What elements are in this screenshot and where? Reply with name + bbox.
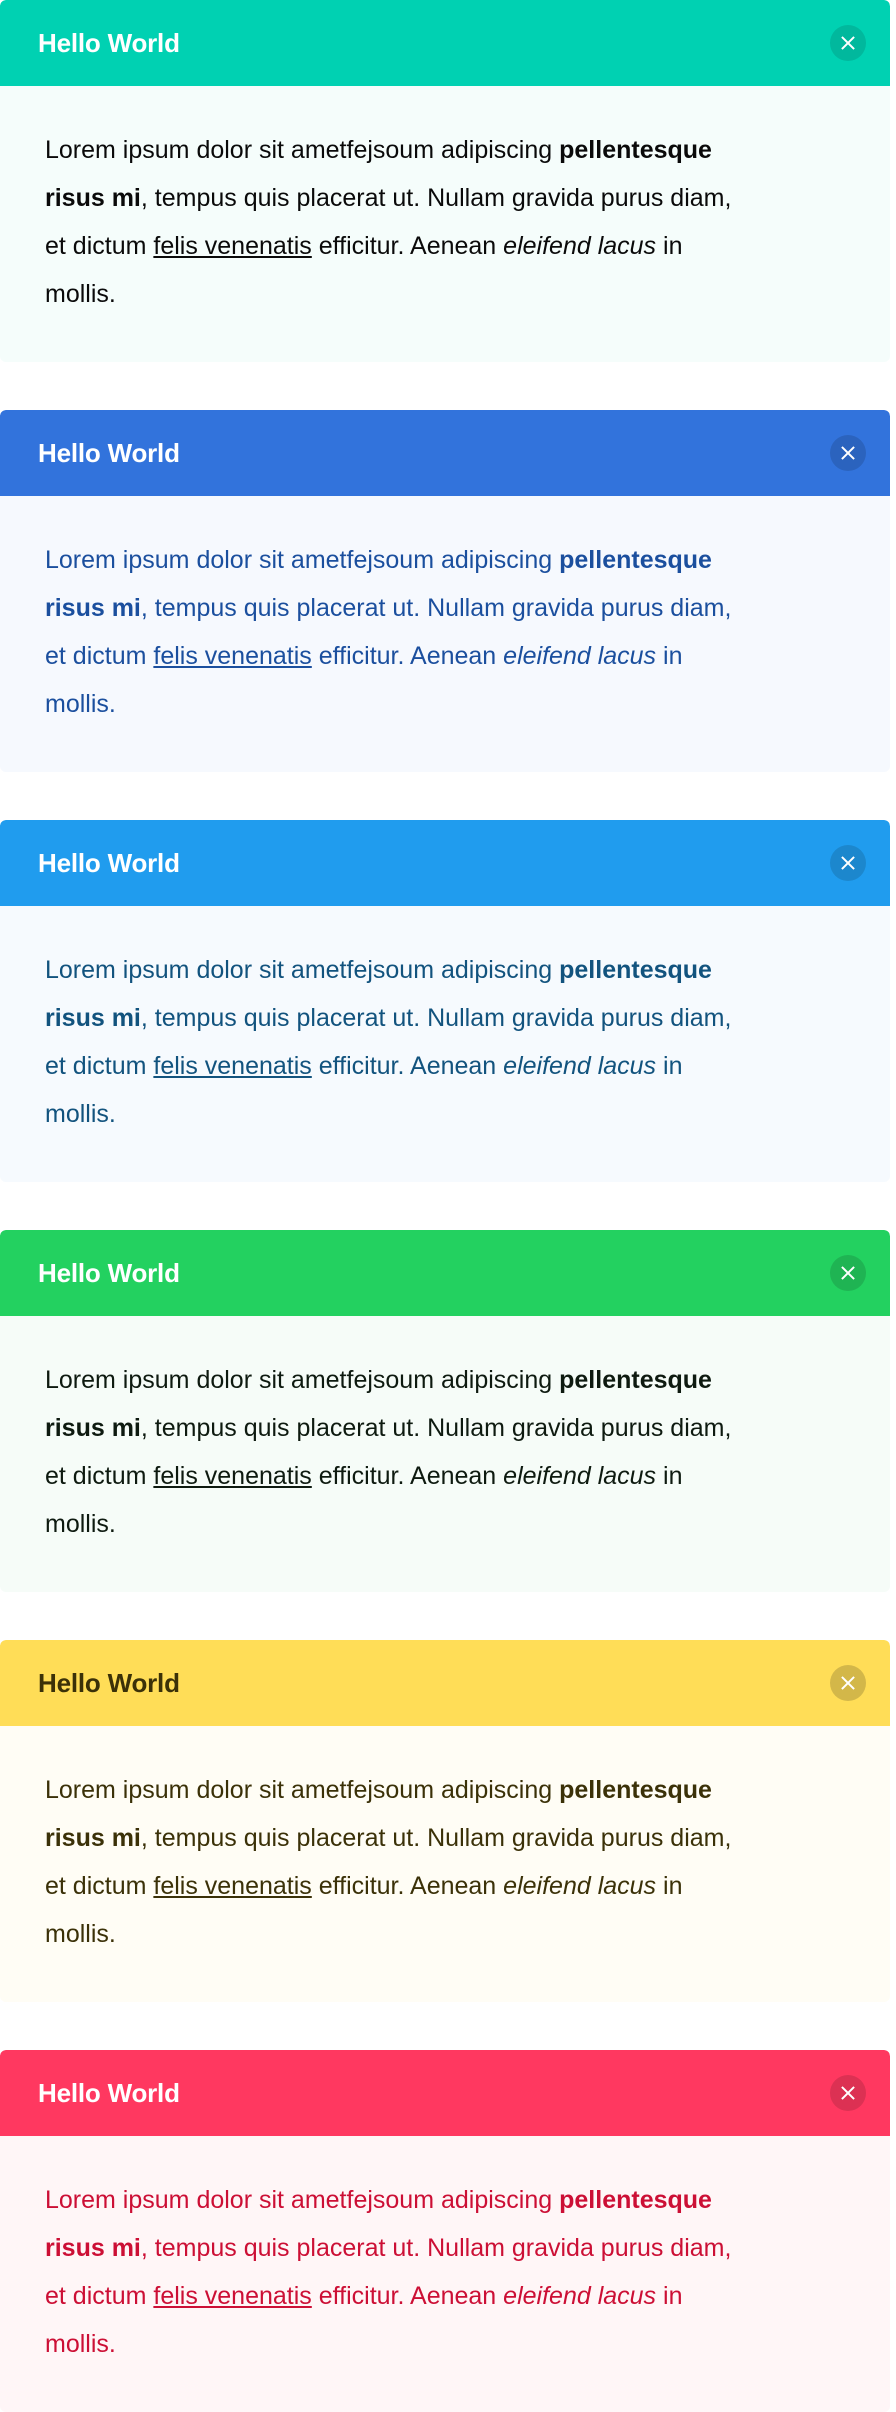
notification-card-warning: Hello WorldLorem ipsum dolor sit ametfej… (0, 1640, 896, 2002)
close-button[interactable] (830, 25, 866, 61)
card-title: Hello World (38, 2080, 180, 2106)
body-text-link[interactable]: felis venenatis (153, 1052, 311, 1080)
card-body-text: Lorem ipsum dolor sit ametfejsoum adipis… (45, 1766, 745, 1958)
close-icon (840, 1675, 856, 1691)
body-text-segment-3: efficitur. Aenean (312, 2282, 503, 2310)
notifications-page: Hello WorldLorem ipsum dolor sit ametfej… (0, 0, 896, 2412)
card-title: Hello World (38, 1670, 180, 1696)
card-body: Lorem ipsum dolor sit ametfejsoum adipis… (0, 1316, 890, 1592)
body-text-link[interactable]: felis venenatis (153, 232, 311, 260)
card-title: Hello World (38, 30, 180, 56)
notification-card-list: Hello WorldLorem ipsum dolor sit ametfej… (0, 0, 896, 2412)
card-title: Hello World (38, 1260, 180, 1286)
body-text-segment-1: Lorem ipsum dolor sit ametfejsoum adipis… (45, 136, 559, 164)
card-header: Hello World (0, 1230, 890, 1316)
body-text-link[interactable]: felis venenatis (153, 642, 311, 670)
card-header: Hello World (0, 410, 890, 496)
body-text-italic: eleifend lacus (503, 1462, 656, 1490)
body-text-italic: eleifend lacus (503, 1052, 656, 1080)
close-button[interactable] (830, 845, 866, 881)
card-header: Hello World (0, 1640, 890, 1726)
notification-card: Hello WorldLorem ipsum dolor sit ametfej… (0, 0, 890, 362)
close-icon (840, 35, 856, 51)
card-body-text: Lorem ipsum dolor sit ametfejsoum adipis… (45, 536, 745, 728)
body-text-italic: eleifend lacus (503, 2282, 656, 2310)
card-body-text: Lorem ipsum dolor sit ametfejsoum adipis… (45, 126, 745, 318)
body-text-segment-3: efficitur. Aenean (312, 1462, 503, 1490)
body-text-segment-1: Lorem ipsum dolor sit ametfejsoum adipis… (45, 2186, 559, 2214)
notification-card: Hello WorldLorem ipsum dolor sit ametfej… (0, 1230, 890, 1592)
body-text-italic: eleifend lacus (503, 232, 656, 260)
body-text-segment-3: efficitur. Aenean (312, 1052, 503, 1080)
body-text-segment-1: Lorem ipsum dolor sit ametfejsoum adipis… (45, 956, 559, 984)
body-text-link[interactable]: felis venenatis (153, 2282, 311, 2310)
notification-card: Hello WorldLorem ipsum dolor sit ametfej… (0, 1640, 890, 2002)
body-text-link[interactable]: felis venenatis (153, 1462, 311, 1490)
close-icon (840, 1265, 856, 1281)
notification-card-link: Hello WorldLorem ipsum dolor sit ametfej… (0, 410, 896, 772)
notification-card-primary: Hello WorldLorem ipsum dolor sit ametfej… (0, 0, 896, 362)
card-body: Lorem ipsum dolor sit ametfejsoum adipis… (0, 2136, 890, 2412)
card-header: Hello World (0, 2050, 890, 2136)
body-text-link[interactable]: felis venenatis (153, 1872, 311, 1900)
body-text-segment-3: efficitur. Aenean (312, 642, 503, 670)
close-button[interactable] (830, 1255, 866, 1291)
card-header: Hello World (0, 0, 890, 86)
body-text-segment-1: Lorem ipsum dolor sit ametfejsoum adipis… (45, 546, 559, 574)
body-text-segment-1: Lorem ipsum dolor sit ametfejsoum adipis… (45, 1366, 559, 1394)
card-body-text: Lorem ipsum dolor sit ametfejsoum adipis… (45, 946, 745, 1138)
close-icon (840, 445, 856, 461)
card-body: Lorem ipsum dolor sit ametfejsoum adipis… (0, 86, 890, 362)
notification-card-danger: Hello WorldLorem ipsum dolor sit ametfej… (0, 2050, 896, 2412)
body-text-segment-3: efficitur. Aenean (312, 1872, 503, 1900)
close-button[interactable] (830, 2075, 866, 2111)
card-body-text: Lorem ipsum dolor sit ametfejsoum adipis… (45, 2176, 745, 2368)
notification-card: Hello WorldLorem ipsum dolor sit ametfej… (0, 2050, 890, 2412)
body-text-italic: eleifend lacus (503, 1872, 656, 1900)
body-text-segment-1: Lorem ipsum dolor sit ametfejsoum adipis… (45, 1776, 559, 1804)
card-header: Hello World (0, 820, 890, 906)
close-button[interactable] (830, 435, 866, 471)
notification-card-info: Hello WorldLorem ipsum dolor sit ametfej… (0, 820, 896, 1182)
card-title: Hello World (38, 440, 180, 466)
notification-card: Hello WorldLorem ipsum dolor sit ametfej… (0, 820, 890, 1182)
body-text-segment-3: efficitur. Aenean (312, 232, 503, 260)
card-body-text: Lorem ipsum dolor sit ametfejsoum adipis… (45, 1356, 745, 1548)
card-title: Hello World (38, 850, 180, 876)
card-body: Lorem ipsum dolor sit ametfejsoum adipis… (0, 496, 890, 772)
close-icon (840, 855, 856, 871)
notification-card-success: Hello WorldLorem ipsum dolor sit ametfej… (0, 1230, 896, 1592)
body-text-italic: eleifend lacus (503, 642, 656, 670)
close-icon (840, 2085, 856, 2101)
close-button[interactable] (830, 1665, 866, 1701)
notification-card: Hello WorldLorem ipsum dolor sit ametfej… (0, 410, 890, 772)
card-body: Lorem ipsum dolor sit ametfejsoum adipis… (0, 1726, 890, 2002)
card-body: Lorem ipsum dolor sit ametfejsoum adipis… (0, 906, 890, 1182)
